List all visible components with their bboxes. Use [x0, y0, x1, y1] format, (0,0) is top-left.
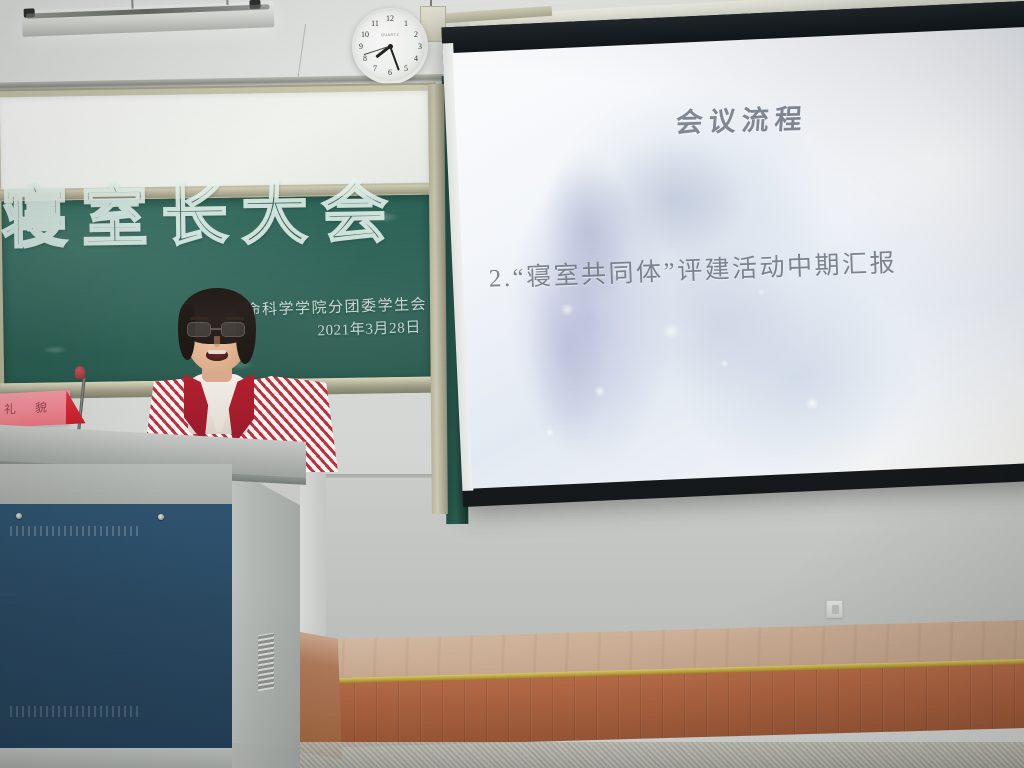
light-end-cap-left	[24, 8, 35, 17]
name-card-placard: 礼 貌	[0, 390, 70, 428]
classroom-photo-scene: QUARTZ 12 1 2 3 4 5 6 7 8 9 10 11 寝室长大会 …	[0, 0, 1024, 768]
podium-screw-right	[158, 514, 164, 520]
presenter-eyebrow-left	[190, 317, 208, 320]
clock-numeral: 10	[359, 31, 371, 39]
podium-side-panel	[224, 464, 300, 758]
clock-numeral: 1	[400, 20, 412, 28]
clock-numeral: 2	[410, 31, 422, 39]
clock-numeral: 9	[355, 43, 367, 51]
clock-numeral: 12	[384, 15, 396, 23]
light-hanger-rod-1	[131, 0, 133, 9]
name-card-text: 礼 貌	[4, 398, 55, 418]
light-hanger-rod-2	[226, 0, 228, 5]
presenter-eyebrow-right	[226, 317, 244, 320]
podium-screw-left	[16, 513, 22, 519]
clock-numeral: 7	[369, 65, 381, 73]
presenter-teeth	[208, 350, 226, 354]
podium-vent-slots	[10, 706, 142, 717]
glasses-lens-right	[221, 322, 245, 337]
wall-light-switch[interactable]	[826, 600, 843, 618]
slide-title: 会议流程	[455, 90, 1024, 147]
podium-upper-face	[0, 464, 232, 506]
clock-numeral: 11	[369, 20, 381, 28]
clock-center-pin	[388, 44, 393, 49]
analog-wall-clock: QUARTZ 12 1 2 3 4 5 6 7 8 9 10 11	[352, 8, 428, 84]
clock-numeral: 5	[400, 65, 412, 73]
podium-base-plinth	[0, 748, 232, 768]
glasses-lens-left	[187, 322, 211, 337]
eyeglasses-icon	[187, 322, 247, 337]
clock-numeral: 3	[414, 43, 426, 51]
clock-numeral: 8	[359, 55, 371, 63]
presenter-nose	[214, 336, 220, 347]
slide-body-text: 2.“寝室共同体”评建活动中期汇报	[488, 238, 1024, 295]
clock-numeral: 4	[410, 55, 422, 63]
white-board-panel	[0, 91, 429, 190]
podium-side-vent-slots	[258, 633, 274, 692]
podium-front-panel	[0, 504, 232, 754]
microphone-icon	[75, 366, 85, 379]
glasses-bridge	[211, 328, 221, 330]
lectern-podium	[0, 424, 320, 768]
projected-slide: 会议流程 2.“寝室共同体”评建活动中期汇报	[453, 27, 1024, 488]
clock-brand-label: QUARTZ	[381, 32, 399, 37]
clock-numeral: 6	[384, 69, 396, 77]
light-end-cap-right	[249, 0, 260, 9]
pull-down-projection-screen[interactable]: 会议流程 2.“寝室共同体”评建活动中期汇报	[441, 1, 1024, 507]
